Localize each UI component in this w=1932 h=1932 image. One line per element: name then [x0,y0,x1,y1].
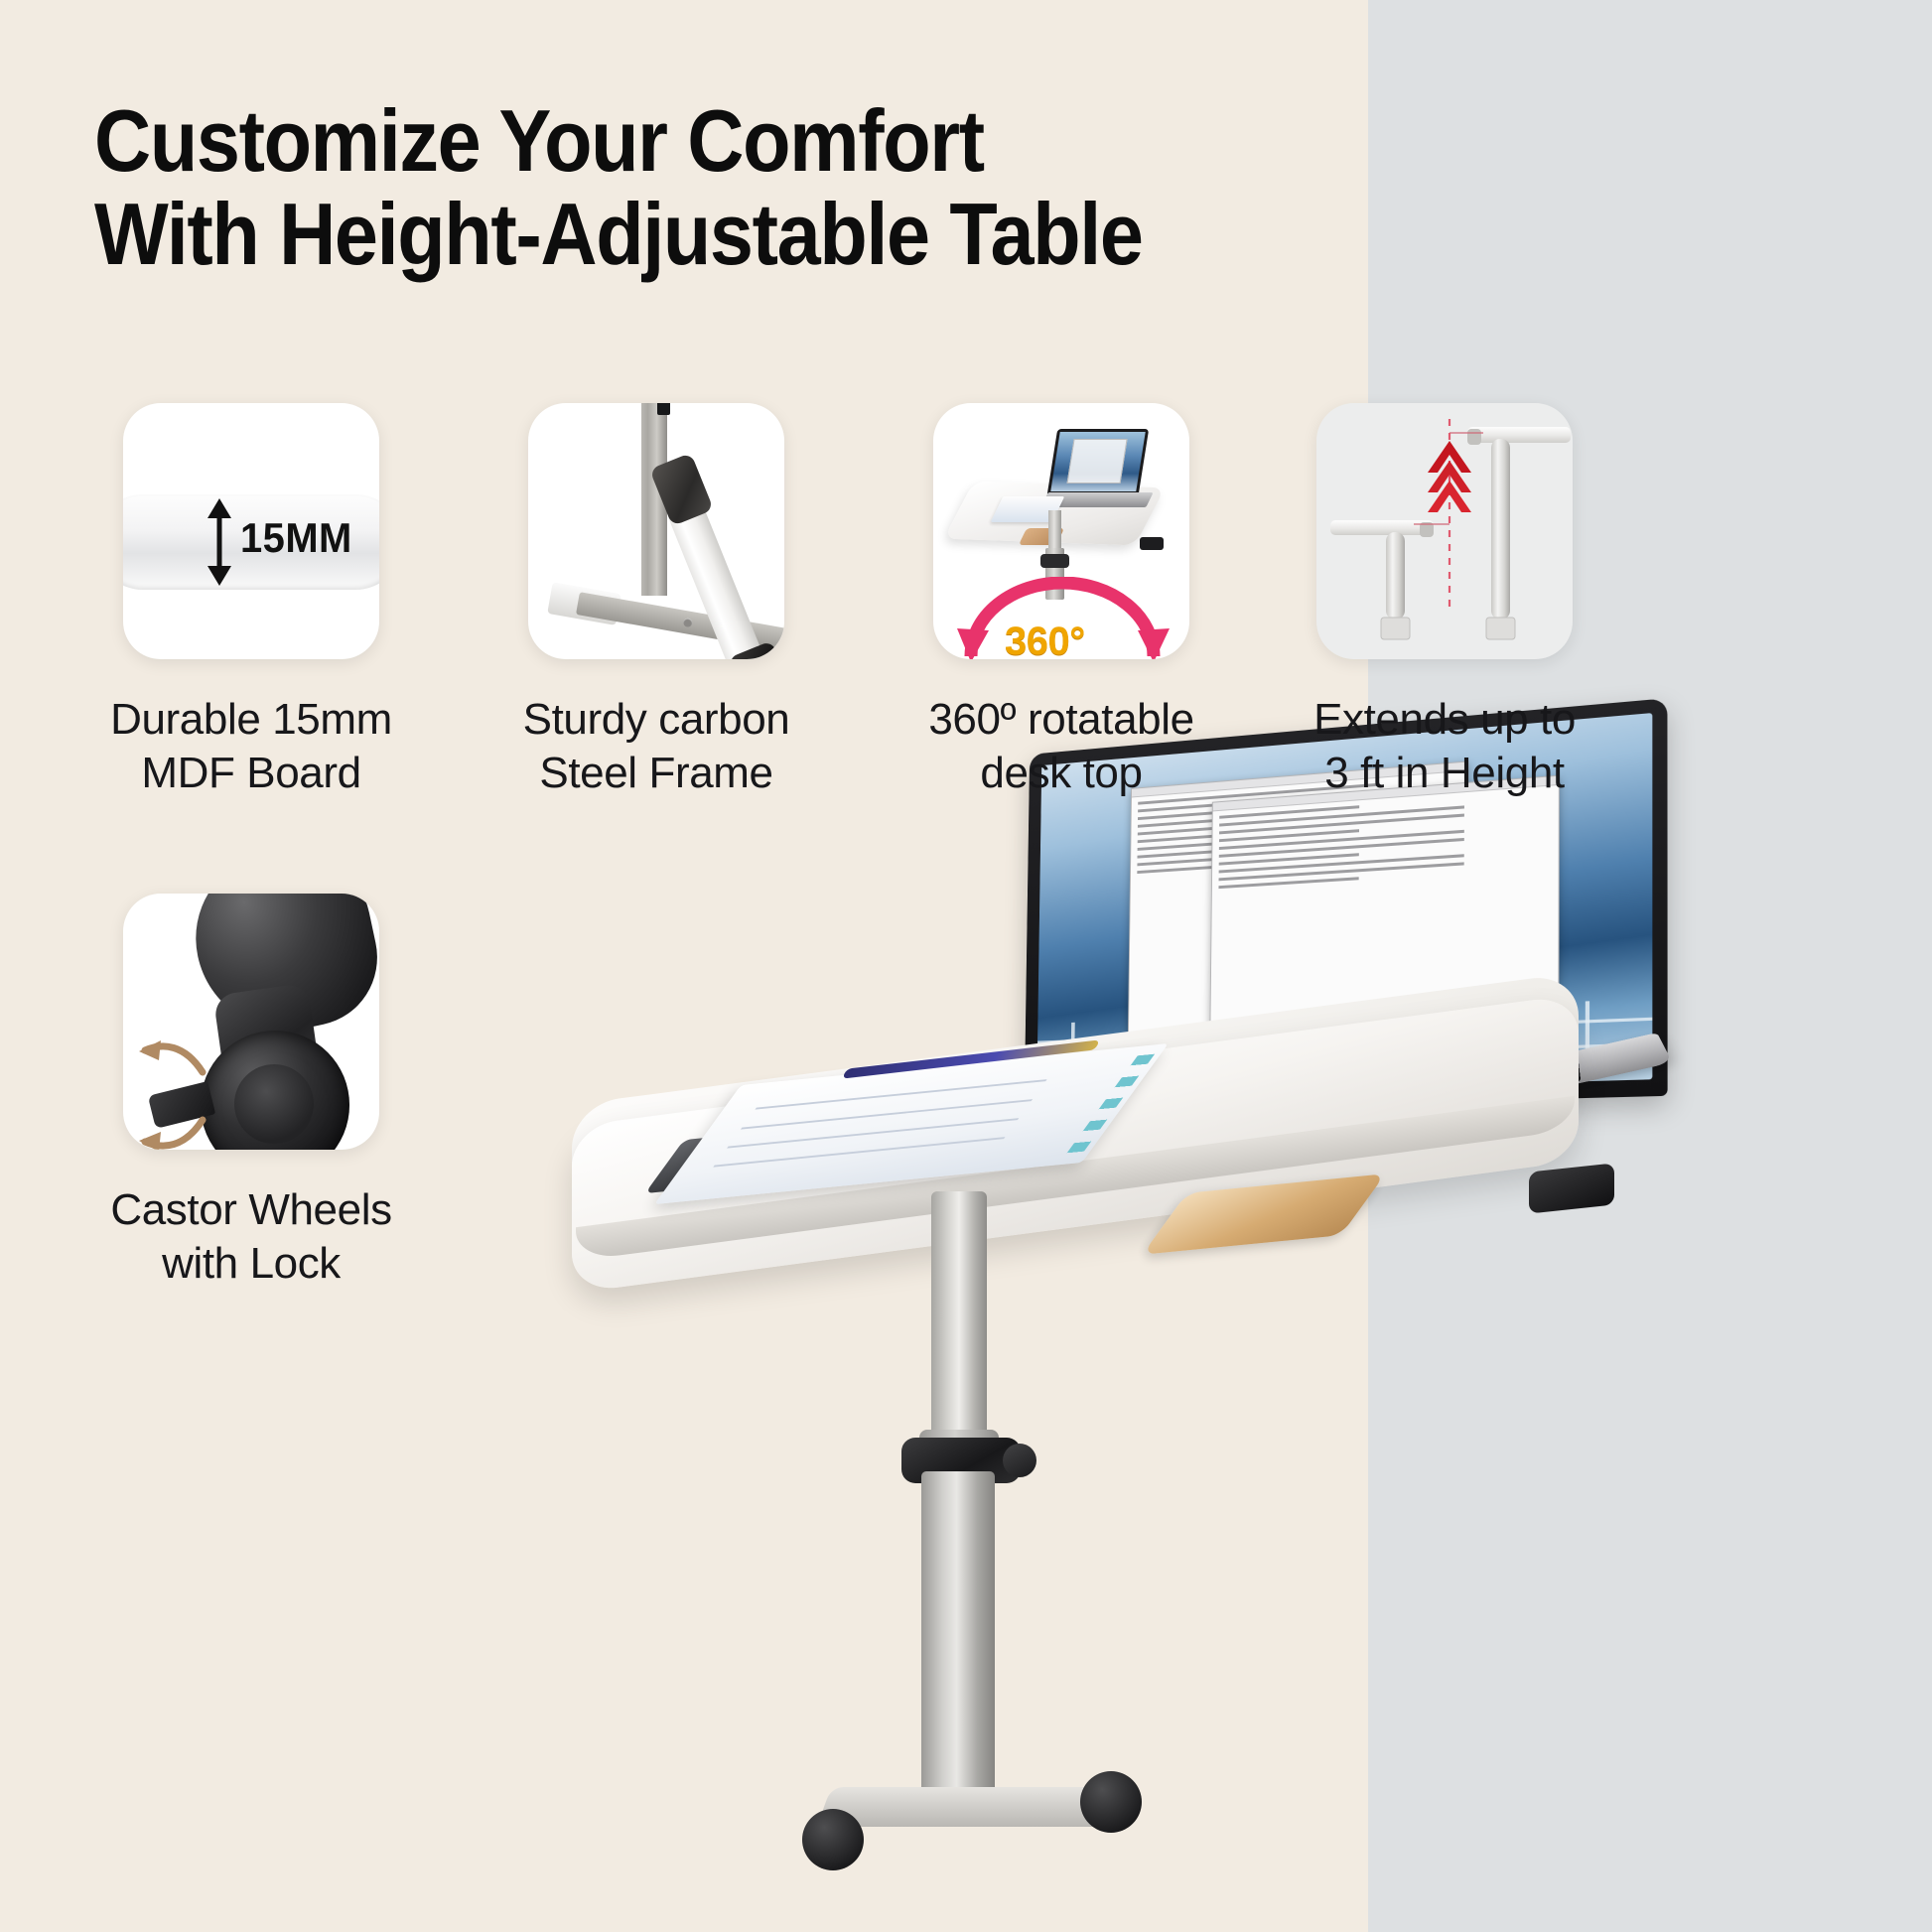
page-title: Customize Your Comfort With Height-Adjus… [94,94,1435,281]
feature-steel-frame: Sturdy carbon Steel Frame [528,403,835,799]
castor-hub-icon [234,1064,314,1144]
mini-desk-illustration [945,433,1183,552]
hero-product-image [536,834,1932,1932]
base-castor-wheel [802,1809,864,1870]
feature-rotatable-top: 360° 360º rotatable desk top [933,403,1240,799]
feature-caption: 360º rotatable desk top [883,693,1240,799]
thickness-label: 15MM [240,514,352,562]
feature-caption: Durable 15mm MDF Board [72,693,430,799]
mini-adjust-knob-icon [1040,554,1069,568]
feature-caption: Sturdy carbon Steel Frame [478,693,835,799]
lock-arrow-down-icon [137,1114,207,1150]
feature-durable-board: 15MM Durable 15mm MDF Board [123,403,430,799]
thickness-arrow-icon [203,498,236,586]
mini-laptop-screen-icon [1047,429,1149,494]
mini-clamp-icon [1140,537,1164,550]
feature-castor-wheels: Castor Wheels with Lock [123,894,430,1290]
base-castor-wheel [1080,1771,1142,1833]
feature-card-icon [1316,403,1573,659]
lock-arrow-up-icon [137,1038,207,1078]
frame-cap-icon [657,403,670,415]
desktop-tilt-clamp [1529,1163,1614,1213]
feature-caption: Castor Wheels with Lock [72,1183,430,1290]
feature-caption: Extends up to 3 ft in Height [1266,693,1623,799]
feature-card-icon: 15MM [123,403,379,659]
column-lower [921,1471,995,1799]
height-extension-diagram-icon [1316,403,1573,659]
column-upper [931,1191,987,1445]
feature-height-extension: Extends up to 3 ft in Height [1316,403,1623,799]
rotation-degree-label: 360° [1005,620,1085,659]
feature-card-icon [528,403,784,659]
feature-card-icon: 360° [933,403,1189,659]
feature-card-icon [123,894,379,1150]
